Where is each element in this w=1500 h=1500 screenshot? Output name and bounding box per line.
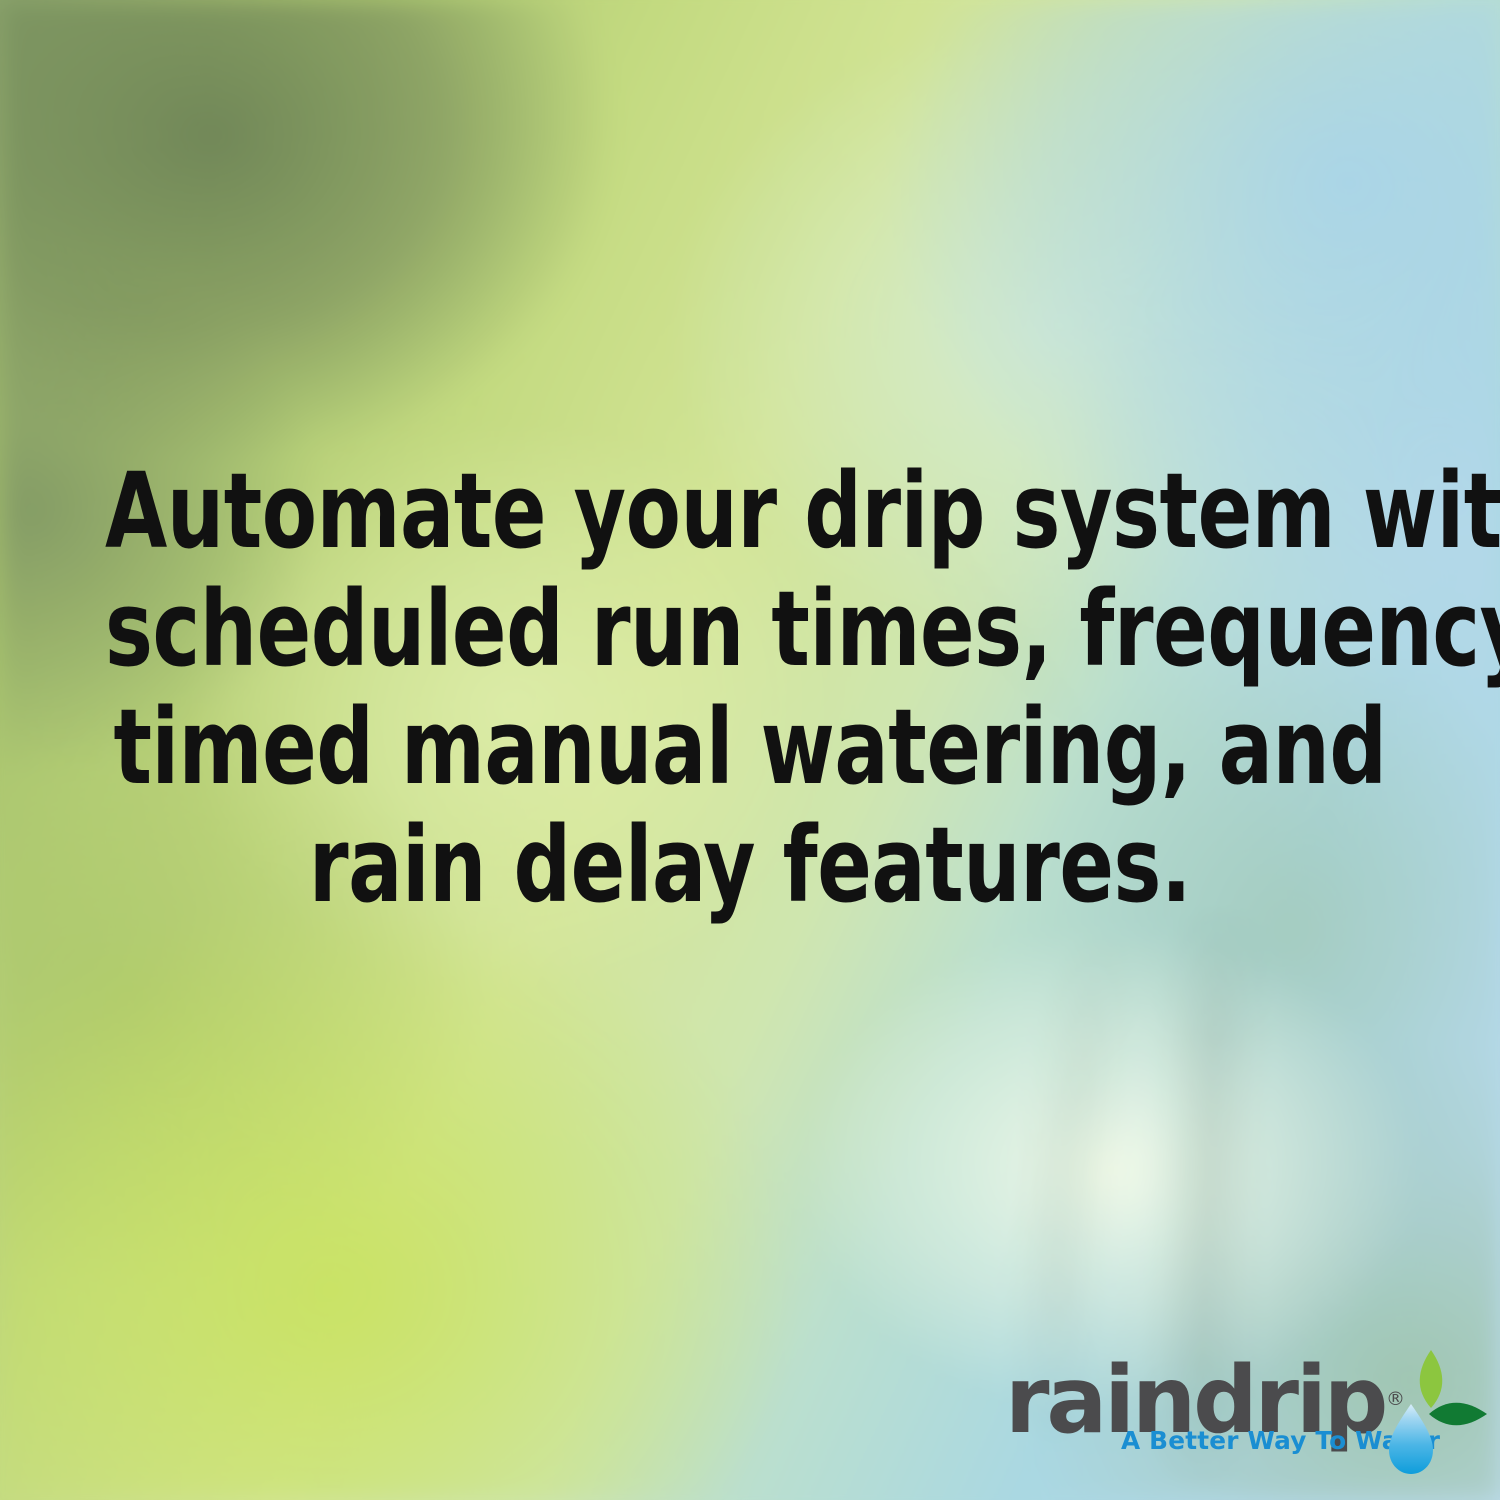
leaf-dark-icon <box>1429 1403 1487 1426</box>
headline-line-3: timed manual watering, and <box>105 688 1395 806</box>
headline-line-2: scheduled run times, frequency, <box>105 570 1395 688</box>
leaf-droplet-mark <box>1375 1342 1495 1492</box>
leaf-light-icon <box>1420 1350 1443 1408</box>
headline-line-4: rain delay features. <box>105 806 1395 924</box>
poster-canvas: Automate your drip system with scheduled… <box>0 0 1500 1500</box>
raindrip-logo: raindrip ® A Better Way To Water <box>1005 1352 1455 1492</box>
water-droplet-icon <box>1389 1404 1433 1474</box>
headline-line-1: Automate your drip system with <box>105 452 1395 570</box>
headline-block: Automate your drip system with scheduled… <box>0 452 1500 924</box>
